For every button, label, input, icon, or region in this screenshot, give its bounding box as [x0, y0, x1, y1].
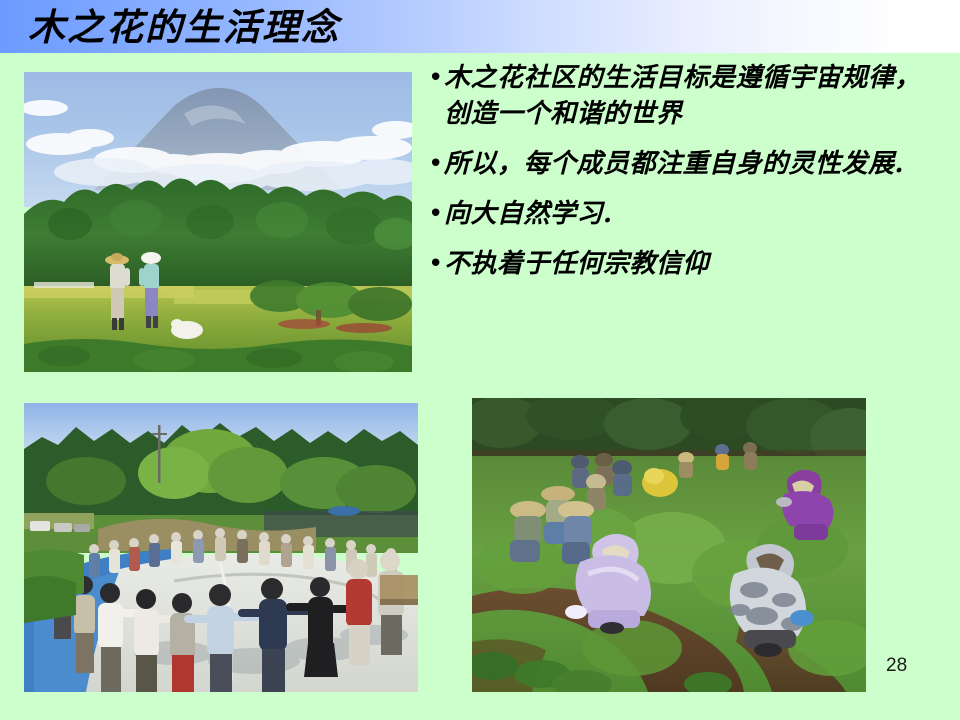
bullet-dot-icon: •	[428, 196, 444, 232]
list-item: • 所以，每个成员都注重自身的灵性发展.	[428, 146, 928, 182]
list-item: • 向大自然学习.	[428, 196, 928, 232]
page-number: 28	[886, 655, 907, 677]
bullet-text: 所以，每个成员都注重自身的灵性发展.	[444, 146, 928, 182]
bullet-dot-icon: •	[428, 146, 444, 182]
page-title: 木之花的生活理念	[28, 3, 340, 51]
bullet-dot-icon: •	[428, 60, 444, 96]
list-item: • 不执着于任何宗教信仰	[428, 246, 928, 282]
community-circle-photo	[24, 403, 418, 692]
bullet-text: 不执着于任何宗教信仰	[444, 246, 928, 282]
list-item: • 木之花社区的生活目标是遵循宇宙规律，创造一个和谐的世界	[428, 60, 928, 132]
field-weeding-photo	[472, 398, 866, 692]
mount-fuji-farm-photo	[24, 72, 412, 372]
bullet-text: 向大自然学习.	[444, 196, 928, 232]
slide-title-bar: 木之花的生活理念	[0, 0, 960, 53]
bullet-text: 木之花社区的生活目标是遵循宇宙规律，创造一个和谐的世界	[444, 60, 928, 132]
bullet-dot-icon: •	[428, 246, 444, 282]
bullet-list: • 木之花社区的生活目标是遵循宇宙规律，创造一个和谐的世界 • 所以，每个成员都…	[428, 60, 928, 296]
